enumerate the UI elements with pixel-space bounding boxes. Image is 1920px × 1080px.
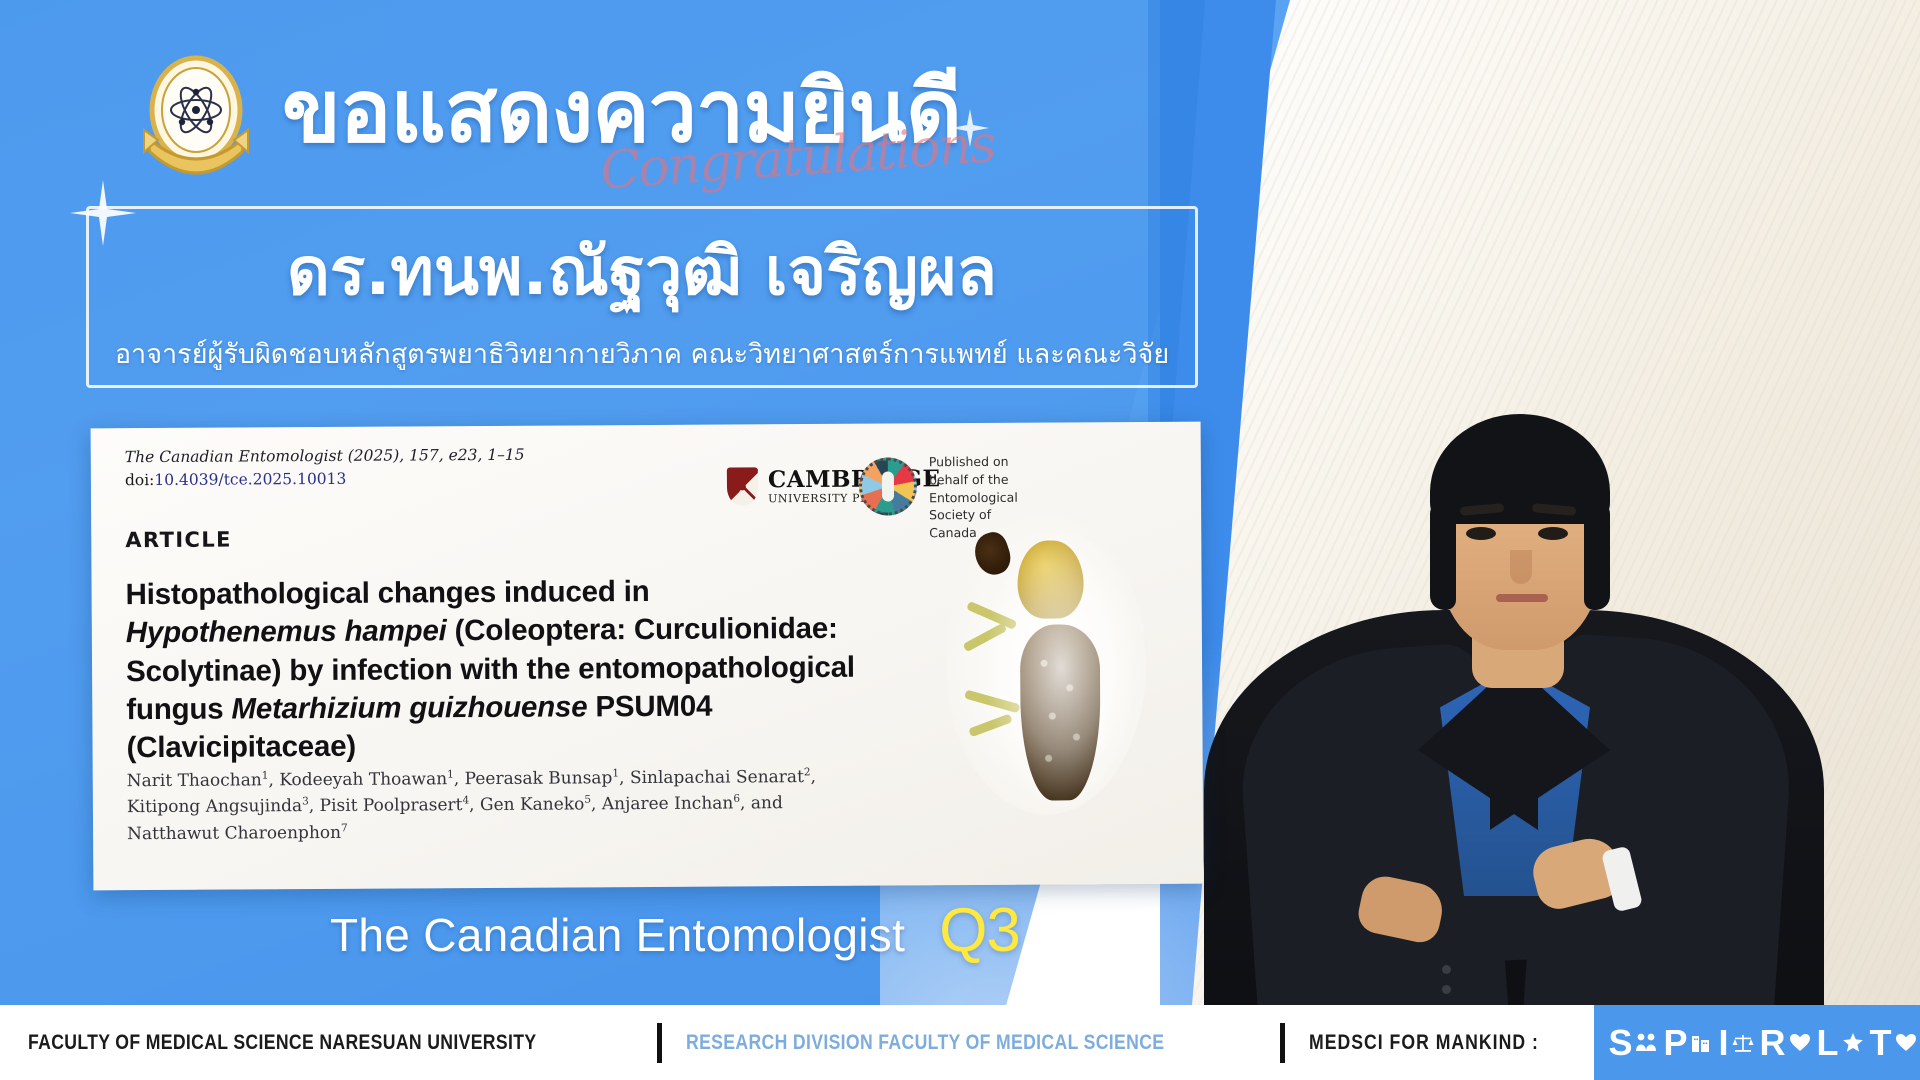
author-name: Sinlapachai Senarat: [630, 767, 804, 788]
heart-icon: [1893, 1029, 1919, 1057]
author-name: Anjaree Inchan: [602, 794, 734, 815]
spirit-letter-p: P: [1663, 1022, 1714, 1064]
balance-scale-icon: [1730, 1029, 1756, 1057]
sparkle-icon: [1110, 930, 1144, 969]
journal-name: The Canadian Entomologist: [330, 908, 905, 962]
handshake-icon: [1787, 1029, 1813, 1057]
paper-title-part-3: Metarhizium guizhouense: [231, 690, 587, 725]
author-affiliation-marker: 1: [262, 770, 269, 782]
hair: [1430, 414, 1610, 524]
beetle-elytra: [1020, 624, 1101, 800]
eye-right: [1538, 527, 1568, 540]
congratulations-poster: ขอแสดงความยินดี Congratulations ดร.ทนพ.ณ…: [0, 0, 1920, 1080]
author-affiliation-marker: 5: [584, 794, 591, 806]
mouth: [1496, 594, 1548, 602]
eye-left: [1466, 527, 1496, 540]
author-name: Natthawut Charoenphon: [127, 823, 341, 844]
spirit-letter-t: T: [1870, 1022, 1919, 1064]
author-affiliation-marker: 4: [462, 795, 469, 807]
footer-faculty-name: FACULTY OF MEDICAL SCIENCE NARESUAN UNIV…: [28, 1031, 536, 1055]
spirit-letter-s-text: S: [1608, 1022, 1632, 1064]
honoree-role: อาจารย์ผู้รับผิดชอบหลักสูตรพยาธิวิทยากาย…: [115, 332, 1169, 375]
article-type-label: ARTICLE: [125, 528, 232, 553]
author-name: Kodeeyah Thoawan: [279, 769, 447, 790]
spirit-letter-l-text: L: [1817, 1022, 1839, 1064]
footer-research-division: RESEARCH DIVISION FACULTY OF MEDICAL SCI…: [686, 1031, 1164, 1055]
suit-button: [1442, 965, 1451, 974]
footer-tagline: MEDSCI FOR MANKIND :: [1309, 1031, 1539, 1055]
author-affiliation-marker: 1: [612, 768, 619, 780]
journal-citation: The Canadian Entomologist (2025), 157, e…: [125, 444, 525, 470]
spirit-acronym-block: S P I R: [1594, 1005, 1920, 1080]
avatar: [1204, 75, 1824, 1080]
author-name: Gen Kaneko: [480, 795, 584, 816]
people-icon: [1633, 1029, 1659, 1057]
spirit-letter-r-text: R: [1760, 1022, 1786, 1064]
author-affiliation-marker: 3: [302, 796, 309, 808]
author-affiliation-marker: 1: [447, 769, 454, 781]
entomological-society-canada-logo-icon: [859, 457, 917, 515]
paper-title-part-1: Hypothenemus hampei: [126, 615, 447, 650]
footer-divider: [657, 1023, 662, 1063]
footer-bar: FACULTY OF MEDICAL SCIENCE NARESUAN UNIV…: [0, 1005, 1920, 1080]
honoree-name-box: ดร.ทนพ.ณัฐวุฒิ เจริญผล อาจารย์ผู้รับผิดช…: [86, 206, 1198, 388]
beetle-specimen-photo: [945, 514, 1147, 815]
spirit-letter-i-text: I: [1718, 1022, 1728, 1064]
paper-title-part-0: Histopathological changes induced in: [126, 575, 650, 611]
beetle-head: [1017, 540, 1083, 618]
author-name: Kitipong Angsujinda: [127, 796, 302, 817]
atom-crest-icon: [130, 52, 262, 180]
honoree-name: ดร.ทนพ.ณัฐวุฒิ เจริญผล: [287, 219, 997, 324]
journal-banner: The Canadian Entomologist Q3: [330, 895, 1020, 966]
suit-button: [1442, 985, 1451, 994]
author-name: Peerasak Bunsap: [465, 768, 613, 789]
spirit-letter-p-text: P: [1663, 1022, 1687, 1064]
spirit-letter-r: R: [1760, 1022, 1813, 1064]
author-affiliation-marker: 2: [804, 766, 811, 778]
spirit-letter-s: S: [1608, 1022, 1659, 1064]
doi-line: doi:10.4039/tce.2025.10013: [125, 467, 525, 493]
doi-label: doi:: [125, 471, 155, 489]
doi-value: 10.4039/tce.2025.10013: [154, 470, 346, 489]
quartile-badge: Q3: [939, 895, 1020, 966]
author-name: Pisit Poolprasert: [320, 795, 463, 816]
paper-card: The Canadian Entomologist (2025), 157, e…: [91, 422, 1204, 891]
paper-citation-block: The Canadian Entomologist (2025), 157, e…: [125, 444, 525, 493]
building-icon: [1688, 1029, 1714, 1057]
spirit-letter-t-text: T: [1870, 1022, 1892, 1064]
star-icon: [1840, 1029, 1866, 1057]
footer-divider: [1280, 1023, 1285, 1063]
author-affiliation-marker: 7: [341, 822, 348, 834]
paper-authors: Narit Thaochan1, Kodeeyah Thoawan1, Peer…: [127, 764, 827, 847]
author-affiliation-marker: 6: [733, 793, 740, 805]
spirit-letter-i: I: [1718, 1022, 1755, 1064]
nose: [1510, 550, 1532, 584]
paper-title: Histopathological changes induced in Hyp…: [126, 572, 867, 768]
footer-content: FACULTY OF MEDICAL SCIENCE NARESUAN UNIV…: [0, 1005, 1920, 1080]
spirit-letter-l: L: [1817, 1022, 1866, 1064]
author-name: Narit Thaochan: [127, 770, 262, 791]
cambridge-shield-icon: [727, 467, 758, 505]
